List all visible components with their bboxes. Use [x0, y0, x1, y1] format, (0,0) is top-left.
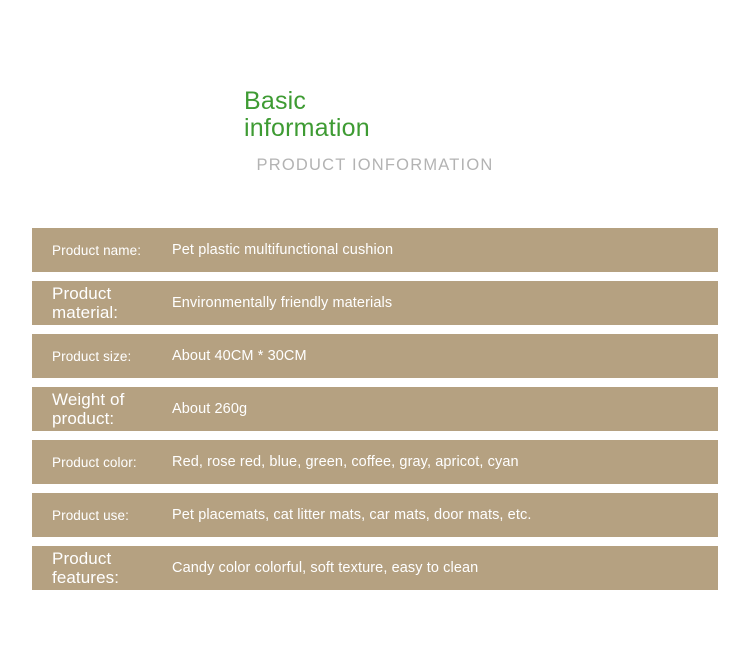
- spec-label: Product use:: [32, 507, 172, 524]
- spec-label: Product color:: [32, 454, 172, 471]
- page-title-line2: information: [244, 115, 510, 142]
- table-row: Product features: Candy color colorful, …: [32, 546, 718, 590]
- table-row: Product use: Pet placemats, cat litter m…: [32, 493, 718, 537]
- specification-table: Product name: Pet plastic multifunctiona…: [32, 228, 718, 599]
- product-spec-page: Basic information PRODUCT IONFORMATION P…: [0, 0, 750, 661]
- spec-value: About 40CM * 30CM: [172, 347, 718, 365]
- spec-value: Environmentally friendly materials: [172, 294, 718, 312]
- page-subtitle: PRODUCT IONFORMATION: [0, 156, 750, 175]
- table-row: Weight of product: About 260g: [32, 387, 718, 431]
- spec-value: Pet plastic multifunctional cushion: [172, 241, 718, 259]
- page-title-line1: Basic: [244, 88, 510, 115]
- spec-label: Product size:: [32, 348, 172, 365]
- spec-value: Red, rose red, blue, green, coffee, gray…: [172, 453, 718, 471]
- spec-label: Product name:: [32, 242, 172, 259]
- table-row: Product color: Red, rose red, blue, gree…: [32, 440, 718, 484]
- table-row: Product material: Environmentally friend…: [32, 281, 718, 325]
- spec-value: Pet placemats, cat litter mats, car mats…: [172, 506, 718, 524]
- spec-label: Weight of product:: [32, 390, 172, 428]
- table-row: Product name: Pet plastic multifunctiona…: [32, 228, 718, 272]
- page-title: Basic information: [240, 88, 510, 142]
- spec-value: Candy color colorful, soft texture, easy…: [172, 559, 718, 577]
- spec-label: Product features:: [32, 549, 172, 587]
- spec-value: About 260g: [172, 400, 718, 418]
- table-row: Product size: About 40CM * 30CM: [32, 334, 718, 378]
- spec-label: Product material:: [32, 284, 172, 322]
- page-header: Basic information PRODUCT IONFORMATION: [0, 88, 750, 175]
